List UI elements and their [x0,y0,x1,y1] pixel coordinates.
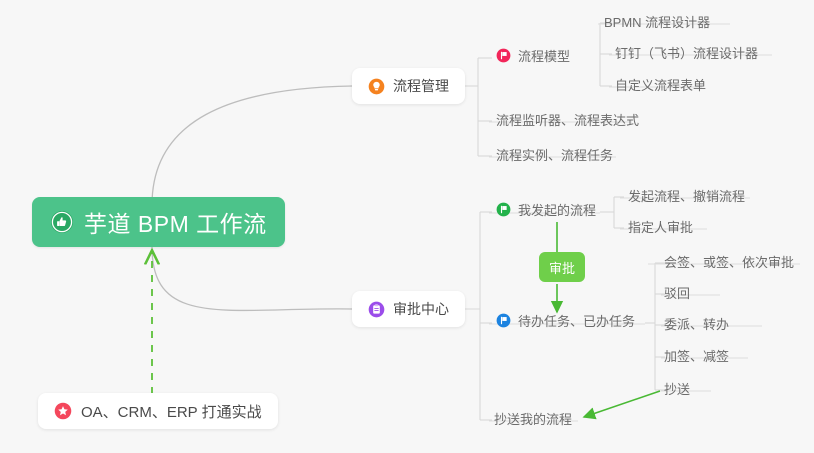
node-start-cancel-process-label: 发起流程、撤销流程 [628,190,745,203]
flag-icon [496,313,511,328]
node-custom-process-form-label: 自定义流程表单 [615,79,706,92]
callout-integration-practice[interactable]: OA、CRM、ERP 打通实战 [38,393,278,429]
thumbs-up-icon [50,210,74,234]
node-reject[interactable]: 驳回 [660,281,694,303]
star-icon [54,402,72,420]
connector-root-to-process-management [152,86,352,205]
node-todo-done-tasks[interactable]: 待办任务、已办任务 [492,309,639,331]
node-countersign[interactable]: 会签、或签、依次审批 [660,250,798,272]
node-custom-process-form[interactable]: 自定义流程表单 [611,73,710,95]
mindmap-canvas: 芋道 BPM 工作流 流程管理 流程模型 BPMN 流程设计器 钉钉（飞书）流程… [0,0,814,453]
node-countersign-label: 会签、或签、依次审批 [664,256,794,269]
branch-process-management[interactable]: 流程管理 [352,68,465,104]
node-instance-task-label: 流程实例、流程任务 [496,149,613,162]
root-node[interactable]: 芋道 BPM 工作流 [32,197,285,247]
arrow-cc-to-ccme [584,391,660,417]
lightbulb-icon [368,78,385,95]
node-dingtalk-feishu-designer[interactable]: 钉钉（飞书）流程设计器 [611,41,762,63]
node-my-initiated[interactable]: 我发起的流程 [492,198,600,220]
node-listener-expression[interactable]: 流程监听器、流程表达式 [492,108,643,130]
node-add-remove-sign-label: 加签、减签 [664,350,729,363]
root-label: 芋道 BPM 工作流 [84,205,267,239]
node-my-initiated-label: 我发起的流程 [518,204,596,217]
node-cc-label: 抄送 [664,383,690,396]
node-bpmn-designer[interactable]: BPMN 流程设计器 [600,10,714,32]
node-bpmn-designer-label: BPMN 流程设计器 [604,16,710,29]
clipboard-icon [368,301,385,318]
node-start-cancel-process[interactable]: 发起流程、撤销流程 [624,184,749,206]
branch-process-management-label: 流程管理 [393,76,449,96]
node-instance-task[interactable]: 流程实例、流程任务 [492,143,617,165]
node-cc-to-me-label: 抄送我的流程 [494,413,572,426]
connector-root-to-approval-center [152,247,352,310]
branch-approval-center-label: 审批中心 [393,299,449,319]
node-delegate-transfer-label: 委派、转办 [664,318,729,331]
node-cc[interactable]: 抄送 [660,377,694,399]
tag-approval[interactable]: 审批 [539,252,585,282]
callout-integration-practice-label: OA、CRM、ERP 打通实战 [81,401,262,422]
node-assignee-approval-label: 指定人审批 [628,221,693,234]
node-delegate-transfer[interactable]: 委派、转办 [660,312,733,334]
node-process-model[interactable]: 流程模型 [492,44,574,66]
flag-icon [496,202,511,217]
node-add-remove-sign[interactable]: 加签、减签 [660,344,733,366]
branch-approval-center[interactable]: 审批中心 [352,291,465,327]
flag-icon [496,48,511,63]
node-process-model-label: 流程模型 [518,50,570,63]
node-dingtalk-feishu-designer-label: 钉钉（飞书）流程设计器 [615,47,758,60]
node-todo-done-tasks-label: 待办任务、已办任务 [518,315,635,328]
node-listener-expression-label: 流程监听器、流程表达式 [496,114,639,127]
tag-approval-label: 审批 [549,258,575,277]
node-reject-label: 驳回 [664,287,690,300]
node-assignee-approval[interactable]: 指定人审批 [624,215,697,237]
node-cc-to-me[interactable]: 抄送我的流程 [490,407,576,429]
